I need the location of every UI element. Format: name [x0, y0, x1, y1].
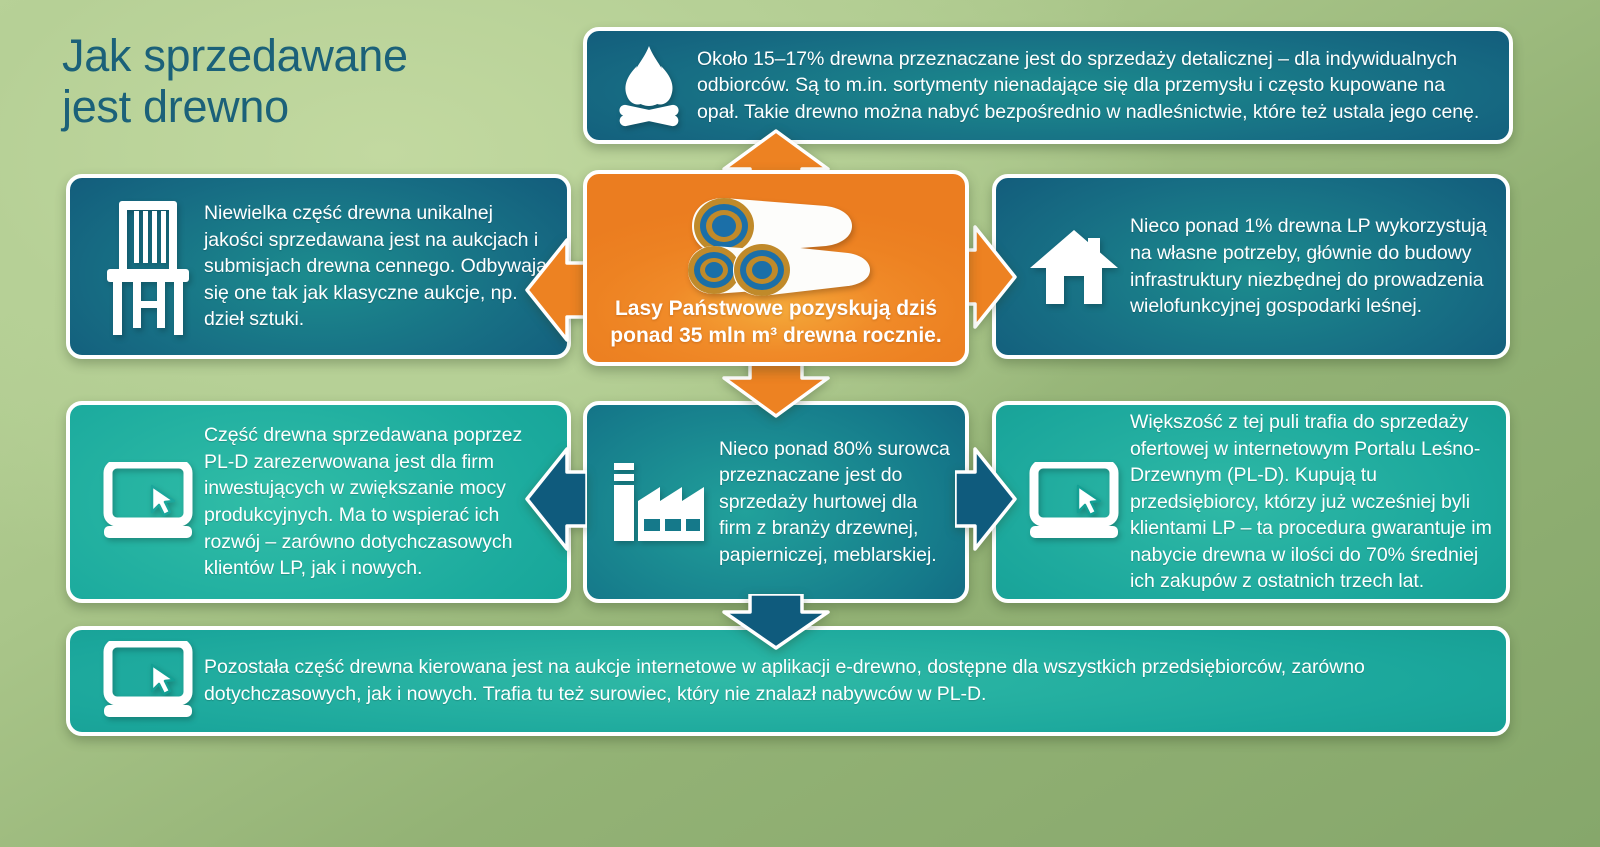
laptop-cursor-icon	[1018, 462, 1130, 542]
page-title-line-1: Jak sprzedawane	[62, 30, 532, 81]
arrow-hub-to-left	[525, 235, 587, 345]
card-pld-reserved-text: Część drewna sprzedawana poprzez PL-D za…	[204, 422, 553, 581]
card-pld-reserved: Część drewna sprzedawana poprzez PL-D za…	[66, 401, 571, 603]
card-wholesale: Nieco ponad 80% surowca przeznaczane jes…	[583, 401, 969, 603]
arrow-center2-to-bottom	[718, 594, 834, 650]
page-title: Jak sprzedawane jest drewno	[62, 30, 532, 133]
card-wholesale-text: Nieco ponad 80% surowca przeznaczane jes…	[719, 436, 953, 569]
factory-icon	[601, 461, 719, 543]
logs-icon	[676, 190, 876, 310]
laptop-cursor-icon	[92, 462, 204, 542]
card-own-needs: Nieco ponad 1% drewna LP wykorzystują na…	[992, 174, 1510, 359]
card-auctions: Niewielka część drewna unikalnej jakości…	[66, 174, 571, 359]
infographic-root: Jak sprzedawane jest drewno	[0, 0, 1600, 847]
arrow-center2-to-left2	[525, 444, 587, 554]
hub-line-1: Lasy Państwowe pozyskują dziś	[610, 296, 941, 323]
card-retail-sales-text: Około 15–17% drewna przeznaczane jest do…	[697, 46, 1491, 126]
card-retail-sales: Około 15–17% drewna przeznaczane jest do…	[583, 27, 1513, 144]
arrow-center2-to-right2	[955, 444, 1017, 554]
card-own-needs-text: Nieco ponad 1% drewna LP wykorzystują na…	[1130, 213, 1492, 319]
card-pld-portal: Większość z tej puli trafia do sprzedaży…	[992, 401, 1510, 603]
campfire-icon	[601, 44, 697, 128]
card-pld-portal-text: Większość z tej puli trafia do sprzedaży…	[1130, 409, 1494, 595]
arrow-hub-to-center2	[718, 358, 834, 418]
hub-line-2: ponad 35 mln m³ drewna rocznie.	[610, 323, 941, 350]
card-auctions-text: Niewielka część drewna unikalnej jakości…	[204, 200, 553, 333]
hub-total-harvest-text: Lasy Państwowe pozyskują dziś ponad 35 m…	[610, 296, 941, 350]
card-e-drewno-text: Pozostała część drewna kierowana jest na…	[204, 654, 1488, 707]
laptop-cursor-icon	[92, 641, 204, 721]
house-icon	[1018, 228, 1130, 306]
hub-total-harvest: Lasy Państwowe pozyskują dziś ponad 35 m…	[583, 170, 969, 366]
page-title-line-2: jest drewno	[62, 81, 532, 132]
chair-icon	[92, 197, 204, 337]
